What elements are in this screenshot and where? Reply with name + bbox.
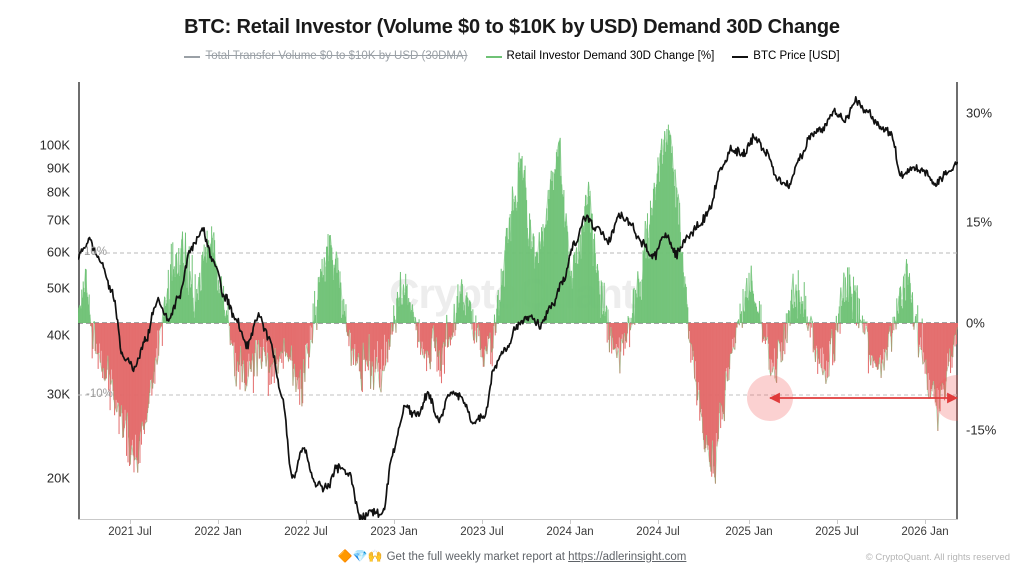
x-axis-tick: 2023 Jan — [370, 526, 417, 538]
x-axis-tick-mark — [837, 519, 838, 524]
y-axis-left-tick: 30K — [8, 387, 70, 402]
chart-screenshot: BTC: Retail Investor (Volume $0 to $10K … — [0, 0, 1024, 576]
y-axis-left-tick: 50K — [8, 281, 70, 296]
y-axis-left-tick: 90K — [8, 161, 70, 176]
annotation-group — [747, 375, 958, 421]
chart-canvas — [78, 82, 958, 520]
legend-swatch-icon — [486, 56, 502, 58]
copyright-notice: © CryptoQuant. All rights reserved — [866, 552, 1010, 563]
x-axis-tick: 2022 Jan — [194, 526, 241, 538]
x-axis-tick: 2021 Jul — [108, 526, 151, 538]
x-axis-tick-mark — [925, 519, 926, 524]
x-axis-tick: 2024 Jan — [546, 526, 593, 538]
y-axis-left-tick: 80K — [8, 185, 70, 200]
x-axis-tick-mark — [218, 519, 219, 524]
x-axis-tick-mark — [658, 519, 659, 524]
x-axis-tick: 2024 Jul — [636, 526, 679, 538]
y-axis-left-tick: 60K — [8, 245, 70, 260]
x-axis-tick: 2025 Jan — [725, 526, 772, 538]
legend-item-label: BTC Price [USD] — [753, 51, 839, 63]
y-axis-left-tick: 40K — [8, 328, 70, 343]
y-axis-right-tick: -15% — [966, 423, 1024, 438]
legend-item-retail-demand[interactable]: Retail Investor Demand 30D Change [%] — [486, 51, 715, 63]
legend-item-label: Total Transfer Volume $0 to $10K by USD … — [205, 51, 467, 63]
y-axis-right-tick: 15% — [966, 215, 1024, 230]
x-axis-tick-mark — [130, 519, 131, 524]
legend-item-label: Retail Investor Demand 30D Change [%] — [507, 51, 715, 63]
series-retail-demand — [78, 125, 958, 484]
gridline-label: 10% — [84, 246, 107, 258]
x-axis-tick: 2023 Jul — [460, 526, 503, 538]
chart-legend: Total Transfer Volume $0 to $10K by USD … — [0, 51, 1024, 63]
plot-area — [78, 82, 958, 520]
x-axis-tick-mark — [570, 519, 571, 524]
page-title: BTC: Retail Investor (Volume $0 to $10K … — [0, 16, 1024, 39]
y-axis-left-tick: 100K — [8, 138, 70, 153]
x-axis-tick: 2025 Jul — [815, 526, 858, 538]
y-axis-left-tick: 20K — [8, 471, 70, 486]
promo-text: Get the full weekly market report at — [387, 551, 569, 563]
y-axis-right-tick: 30% — [966, 106, 1024, 121]
x-axis-tick-mark — [394, 519, 395, 524]
legend-swatch-icon — [184, 56, 200, 58]
legend-swatch-icon — [732, 56, 748, 58]
x-axis-tick-mark — [306, 519, 307, 524]
y-axis-left-tick: 70K — [8, 213, 70, 228]
x-axis-tick: 2022 Jul — [284, 526, 327, 538]
x-axis-tick-mark — [482, 519, 483, 524]
promo-link[interactable]: https://adlerinsight.com — [568, 551, 686, 563]
gridline-label: -10% — [86, 388, 113, 400]
legend-item-total-transfer-volume[interactable]: Total Transfer Volume $0 to $10K by USD … — [184, 51, 467, 63]
x-axis-tick: 2026 Jan — [901, 526, 948, 538]
promo-emoji-icon: 🔶💎🙌 — [338, 549, 383, 563]
y-axis-right-tick: 0% — [966, 316, 1024, 331]
x-axis-tick-mark — [749, 519, 750, 524]
legend-item-btc-price[interactable]: BTC Price [USD] — [732, 51, 839, 63]
